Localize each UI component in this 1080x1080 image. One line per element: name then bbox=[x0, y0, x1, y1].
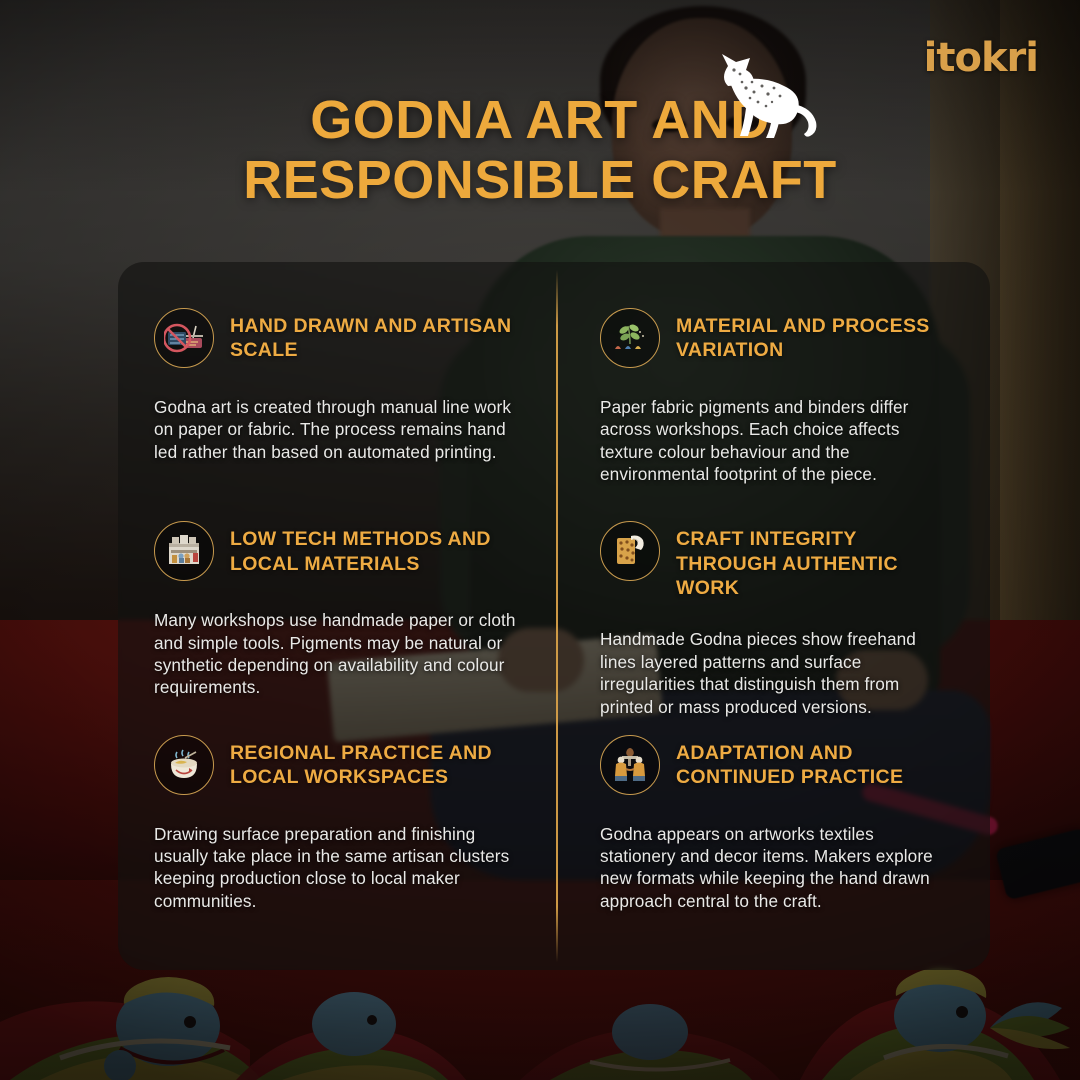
section-body: Many workshops use handmade paper or clo… bbox=[154, 609, 518, 698]
section-title: REGIONAL PRACTICE AND LOCAL WORKSPACES bbox=[230, 741, 518, 790]
section-title: MATERIAL AND PROCESS VARIATION bbox=[676, 314, 954, 363]
section-title: LOW TECH METHODS AND LOCAL MATERIALS bbox=[230, 527, 518, 576]
content-card: HAND DRAWN AND ARTISAN SCALE Godna art i… bbox=[118, 262, 990, 970]
workshop-building-icon bbox=[154, 521, 214, 581]
steaming-dye-pot-icon bbox=[154, 735, 214, 795]
section-item: REGIONAL PRACTICE AND LOCAL WORKSPACES D… bbox=[118, 735, 554, 948]
page-title: GODNA ART AND RESPONSIBLE CRAFT bbox=[0, 90, 1080, 211]
infographic-poster: itokri GODNA ART AND RESPONSIBLE CRAFT bbox=[0, 0, 1080, 1080]
section-body: Handmade Godna pieces show freehand line… bbox=[600, 628, 954, 717]
section-item: CRAFT INTEGRITY THROUGH AUTHENTIC WORK H… bbox=[554, 521, 990, 734]
section-title: HAND DRAWN AND ARTISAN SCALE bbox=[230, 314, 518, 363]
section-body: Paper fabric pigments and binders differ… bbox=[600, 396, 954, 485]
page-title-line2: RESPONSIBLE CRAFT bbox=[0, 150, 1080, 210]
natural-pigments-leaves-icon bbox=[600, 308, 660, 368]
section-body: Godna art is created through manual line… bbox=[154, 396, 518, 463]
page-title-line1: GODNA ART AND bbox=[0, 90, 1080, 150]
section-item: LOW TECH METHODS AND LOCAL MATERIALS Man… bbox=[118, 521, 554, 734]
section-item: HAND DRAWN AND ARTISAN SCALE Godna art i… bbox=[118, 308, 554, 521]
brand-logo-text: itokri bbox=[924, 35, 1038, 81]
section-body: Drawing surface preparation and finishin… bbox=[154, 823, 518, 912]
section-body: Godna appears on artworks textiles stati… bbox=[600, 823, 954, 912]
two-artisans-working-icon bbox=[600, 735, 660, 795]
hand-holding-patterned-fabric-icon bbox=[600, 521, 660, 581]
section-title: CRAFT INTEGRITY THROUGH AUTHENTIC WORK bbox=[676, 527, 954, 600]
section-item: MATERIAL AND PROCESS VARIATION Paper fab… bbox=[554, 308, 990, 521]
brand-logo[interactable]: itokri bbox=[924, 38, 1038, 78]
no-printing-press-icon bbox=[154, 308, 214, 368]
section-title: ADAPTATION AND CONTINUED PRACTICE bbox=[676, 741, 954, 790]
section-item: ADAPTATION AND CONTINUED PRACTICE Godna … bbox=[554, 735, 990, 948]
godna-animal-icon bbox=[706, 52, 826, 142]
